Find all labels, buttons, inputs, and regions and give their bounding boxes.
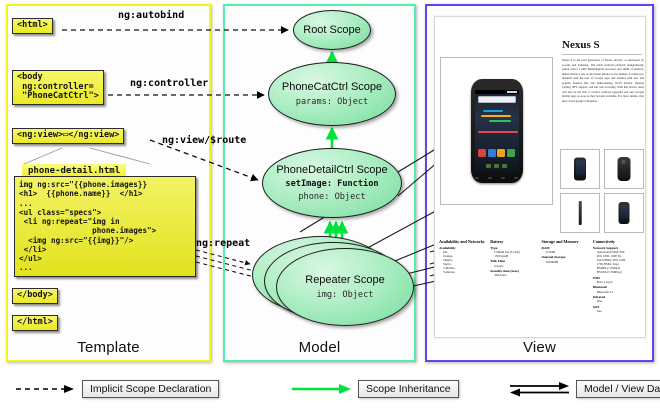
hardware-button [514, 177, 518, 179]
scope-name: PhoneCatCtrl Scope [282, 81, 382, 93]
phone-launcher-tray [485, 162, 509, 169]
thumbnail-phone-angled[interactable] [604, 193, 644, 233]
phone-angled-icon [619, 202, 630, 224]
screen-accent-line [478, 131, 518, 133]
scope-node-phonecatctrl[interactable]: PhoneCatCtrl Scope params: Object [268, 62, 396, 126]
thumbnail-grid [560, 149, 644, 233]
spec-value: Bluetooth 2.1 [593, 290, 641, 294]
spec-value: HSUPA (5.76Mbps) [593, 270, 641, 274]
spec-heading: Availability and Networks [439, 239, 487, 244]
template-node-body-open[interactable]: <body ng:controller= "PhoneCatCtrl"> [12, 70, 104, 105]
legend-label: Scope Inheritance [358, 380, 459, 398]
green-arrow-icon [290, 381, 352, 397]
dashed-arrow-icon [14, 381, 76, 397]
view-page-description: Nexus S is the next generation of Nexus … [562, 58, 644, 103]
phone-hardware-buttons [471, 175, 523, 182]
phone-search-widget [478, 96, 516, 103]
template-node-ngview[interactable]: <ng:view>▭</ng:view> [12, 128, 124, 144]
spec-value: 512MB [542, 250, 590, 254]
diagram-canvas: Template Model View [0, 0, 660, 420]
edge-label-autobind: ng:autobind [118, 10, 184, 21]
spec-heading: Battery [490, 239, 538, 244]
screen-accent-line [489, 120, 511, 122]
legend-label: Model / View Data-binding [576, 380, 660, 398]
scope-node-phonedetailctrl[interactable]: PhoneDetailCtrl Scope setImage: Function… [262, 148, 402, 218]
spec-value: 802.11 b/g/n [593, 280, 641, 284]
hardware-button [475, 177, 479, 179]
double-arrow-icon [508, 381, 570, 397]
panel-label-view: View [427, 339, 652, 356]
template-node-body-close[interactable]: </body> [12, 288, 58, 304]
app-icon [478, 149, 486, 157]
template-node-html-open[interactable]: <html> [12, 18, 53, 34]
legend-item-implicit-scope: Implicit Scope Declaration [14, 380, 219, 398]
template-node-html-close[interactable]: </html> [12, 315, 58, 331]
legend-item-scope-inheritance: Scope Inheritance [290, 380, 459, 398]
tray-icon [502, 164, 507, 168]
phone-back-icon [618, 157, 631, 181]
spec-value: 6 hours [490, 264, 538, 268]
panel-label-template: Template [8, 339, 209, 356]
edge-label-controller: ng:controller [130, 78, 208, 89]
scope-name: PhoneDetailCtrl Scope [276, 164, 387, 176]
app-icon [497, 149, 505, 157]
panel-label-model: Model [225, 339, 414, 356]
spec-value: Vodafone [439, 270, 487, 274]
scope-property: phone: Object [298, 192, 365, 202]
scope-node-root[interactable]: Root Scope [293, 10, 371, 50]
edge-label-view-route: ng:view/$route [162, 135, 246, 146]
app-icon [507, 149, 515, 157]
spec-value: false [593, 299, 641, 303]
scope-name: Repeater Scope [305, 274, 385, 286]
spec-value: 16384MB [542, 260, 590, 264]
thumbnail-phone-front[interactable] [560, 149, 600, 189]
thumbnail-phone-back[interactable] [604, 149, 644, 189]
spec-column-storage: Storage and Memory RAM 512MB Internal St… [542, 239, 590, 313]
scope-name: Root Scope [303, 24, 360, 36]
spec-column-battery: Battery Type Lithium Ion (Li-Ion) 1500 m… [490, 239, 538, 313]
specs-table: Availability and Networks Availability M… [439, 239, 641, 313]
spec-value: 428 hours [490, 273, 538, 277]
screen-accent-line [481, 115, 511, 117]
hardware-button [501, 177, 505, 179]
hero-image-frame[interactable] [440, 57, 553, 205]
scope-property: img: Object [317, 290, 374, 300]
legend-item-data-binding: Model / View Data-binding [508, 380, 660, 398]
spec-value: 1500 mAH [490, 254, 538, 258]
phone-front-icon [574, 158, 586, 181]
scope-property: params: Object [296, 97, 368, 107]
spec-heading: Connectivity [593, 239, 641, 244]
tray-icon [486, 164, 491, 168]
phone-screen [475, 90, 519, 172]
spec-heading: Storage and Memory [542, 239, 590, 244]
scope-property: setImage: Function [285, 179, 378, 189]
spec-value: true [593, 309, 641, 313]
phone-edge-icon [579, 201, 582, 225]
spec-column-connectivity: Connectivity Network Support Quad-band G… [593, 239, 641, 313]
title-divider [562, 54, 642, 55]
scope-node-repeater[interactable]: Repeater Scope img: Object [276, 248, 414, 326]
hardware-button [488, 177, 492, 179]
edge-label-repeat: ng:repeat [196, 238, 250, 249]
view-page-title: Nexus S [562, 39, 600, 51]
phone-hero-image [471, 79, 523, 183]
spec-column-availability: Availability and Networks Availability M… [439, 239, 487, 313]
view-rendered-page: Nexus S Nexus S is the next generation o… [434, 16, 646, 338]
screen-accent-line [483, 110, 503, 112]
phone-statusbar [475, 90, 519, 94]
legend: Implicit Scope Declaration Scope Inherit… [0, 376, 660, 410]
thumbnail-phone-edge[interactable] [560, 193, 600, 233]
tray-icon [494, 164, 499, 168]
legend-label: Implicit Scope Declaration [82, 380, 219, 398]
phone-app-dock [478, 147, 516, 159]
app-icon [488, 149, 496, 157]
partial-code-block[interactable]: img ng:src="{{phone.images}} <h1> {{phon… [14, 176, 196, 277]
